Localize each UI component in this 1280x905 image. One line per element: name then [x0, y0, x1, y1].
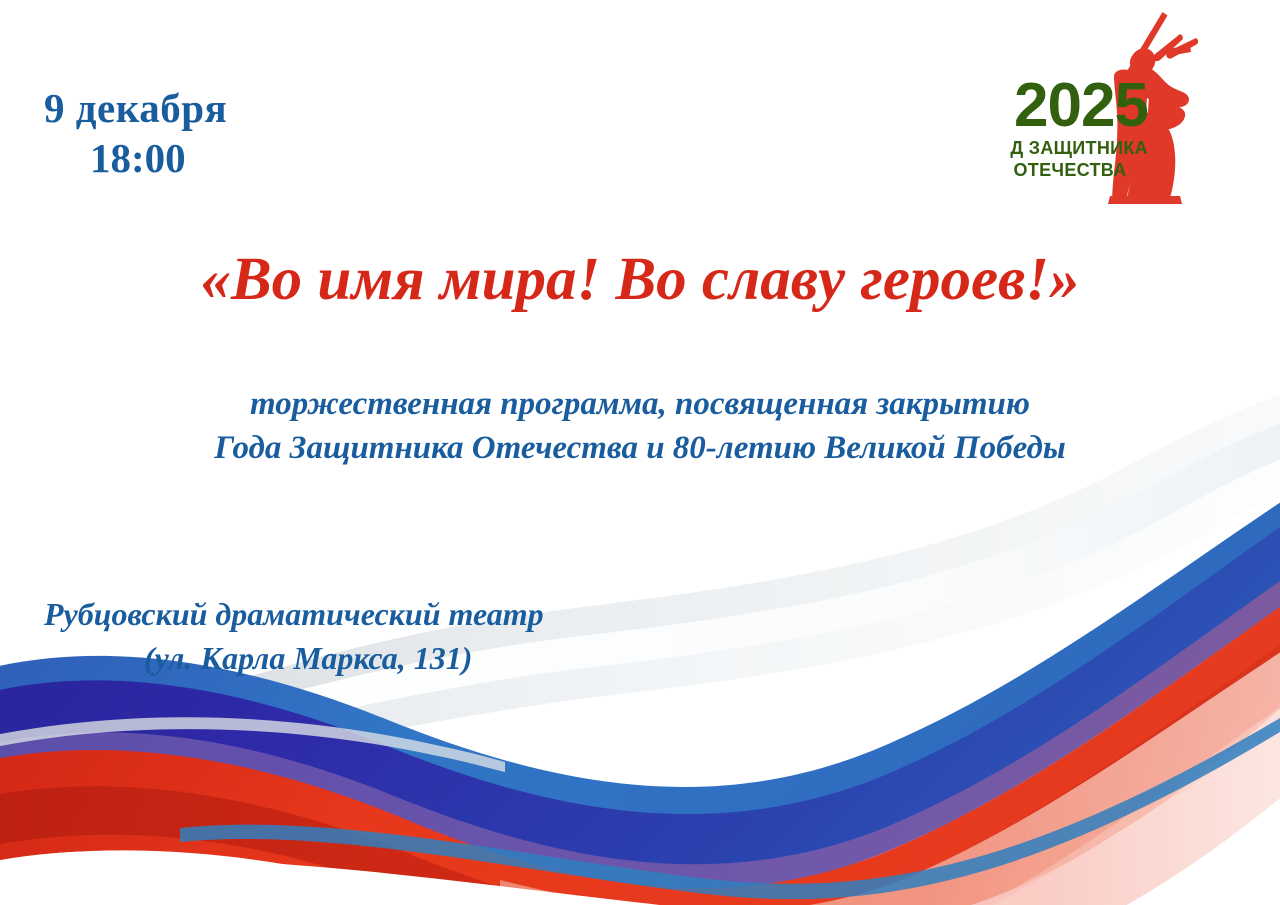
- logo-svg: 2025 ГОД ЗАЩИТНИКА ОТЕЧЕСТВА: [1010, 8, 1238, 208]
- wave-foreground-white: [0, 850, 490, 905]
- venue-address: (ул. Карла Маркса, 131): [144, 636, 544, 680]
- logo-subtitle-line2: ОТЕЧЕСТВА: [1013, 160, 1126, 180]
- poster-subtitle: торжественная программа, посвященная зак…: [0, 383, 1280, 470]
- wave-hairline-blue: [180, 712, 1280, 899]
- event-date-block: 9 декабря 18:00: [44, 88, 227, 180]
- wave-band-salmon: [500, 646, 1280, 905]
- wave-band-indigo: [0, 520, 1280, 890]
- logo-subtitle-line1: ГОД ЗАЩИТНИКА: [1010, 138, 1148, 158]
- wave-band-light-blue: [0, 512, 1280, 882]
- year-of-defender-logo: 2025 ГОД ЗАЩИТНИКА ОТЕЧЕСТВА: [1010, 8, 1238, 208]
- subtitle-line-2: Года Защитника Отечества и 80-летию Вели…: [0, 427, 1280, 471]
- wave-band-pink: [640, 700, 1280, 905]
- wave-bottom-white: [0, 859, 1280, 905]
- venue-block: Рубцовский драматический театр (ул. Карл…: [44, 592, 544, 680]
- wave-band-white-mid: [0, 490, 1280, 905]
- wave-whisper-grey: [0, 717, 505, 772]
- subtitle-line-1: торжественная программа, посвященная зак…: [0, 383, 1280, 427]
- logo-year: 2025: [1014, 71, 1148, 140]
- wave-band-grey-mid: [0, 456, 1280, 905]
- poster-title: «Во имя мира! Во славу героев!»: [0, 245, 1280, 315]
- venue-name: Рубцовский драматический театр: [44, 592, 544, 636]
- event-date: 9 декабря: [44, 88, 227, 130]
- event-poster: 9 декабря 18:00: [0, 0, 1280, 905]
- event-time: 18:00: [90, 138, 227, 180]
